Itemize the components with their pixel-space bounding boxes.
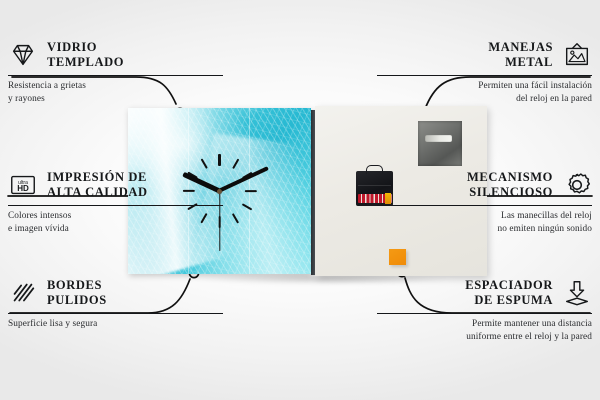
feature-title: IMPRESIÓN DE ALTA CALIDAD xyxy=(47,170,148,201)
feature-rule xyxy=(377,205,592,206)
feature-title: VIDRIO TEMPLADO xyxy=(47,40,124,71)
feature-header: MANEJAS METAL xyxy=(377,38,592,72)
feature-espaciador-espuma: ESPACIADOR DE ESPUMA Permite mantener un… xyxy=(377,276,592,343)
feature-rule xyxy=(377,313,592,314)
foam-spacer-arrow-icon xyxy=(562,278,592,308)
feature-description: Permite mantener una distancia uniforme … xyxy=(377,318,592,343)
feature-rule xyxy=(377,75,592,76)
polished-edges-icon xyxy=(8,278,38,308)
diamond-icon xyxy=(8,40,38,70)
feature-manejas-metal: MANEJAS METAL Permiten una fácil instala… xyxy=(377,38,592,105)
infographic-canvas: VIDRIO TEMPLADO Resistencia a grietas y … xyxy=(0,0,600,400)
feature-mecanismo-silencioso: MECANISMO SILENCIOSO Las manecillas del … xyxy=(377,168,592,235)
feature-description: Permiten una fácil instalación del reloj… xyxy=(377,80,592,105)
hanger-plate xyxy=(418,121,462,166)
feature-header: MECANISMO SILENCIOSO xyxy=(377,168,592,202)
feature-header: BORDES PULIDOS xyxy=(8,276,223,310)
feature-description: Las manecillas del reloj no emiten ningú… xyxy=(377,210,592,235)
ultra-hd-icon: ultra HD xyxy=(8,170,38,200)
feature-description: Colores intensos e imagen vívida xyxy=(8,210,223,235)
feature-vidrio-templado: VIDRIO TEMPLADO Resistencia a grietas y … xyxy=(8,38,223,105)
wall-frame-hook-icon xyxy=(562,40,592,70)
feature-title: BORDES PULIDOS xyxy=(47,278,107,309)
feature-rule xyxy=(8,313,223,314)
feature-impresion-alta-calidad: ultra HD IMPRESIÓN DE ALTA CALIDAD Color… xyxy=(8,168,223,235)
feature-bordes-pulidos: BORDES PULIDOS Superficie lisa y segura xyxy=(8,276,223,331)
feature-header: VIDRIO TEMPLADO xyxy=(8,38,223,72)
gear-icon xyxy=(562,170,592,200)
feature-title: ESPACIADOR DE ESPUMA xyxy=(465,278,553,309)
svg-text:HD: HD xyxy=(17,184,29,193)
feature-description: Resistencia a grietas y rayones xyxy=(8,80,223,105)
feature-header: ESPACIADOR DE ESPUMA xyxy=(377,276,592,310)
feature-title: MANEJAS METAL xyxy=(488,40,553,71)
feature-header: ultra HD IMPRESIÓN DE ALTA CALIDAD xyxy=(8,168,223,202)
foam-spacer xyxy=(389,249,406,265)
feature-description: Superficie lisa y segura xyxy=(8,318,223,330)
feature-rule xyxy=(8,75,223,76)
feature-rule xyxy=(8,205,223,206)
feature-title: MECANISMO SILENCIOSO xyxy=(467,170,553,201)
